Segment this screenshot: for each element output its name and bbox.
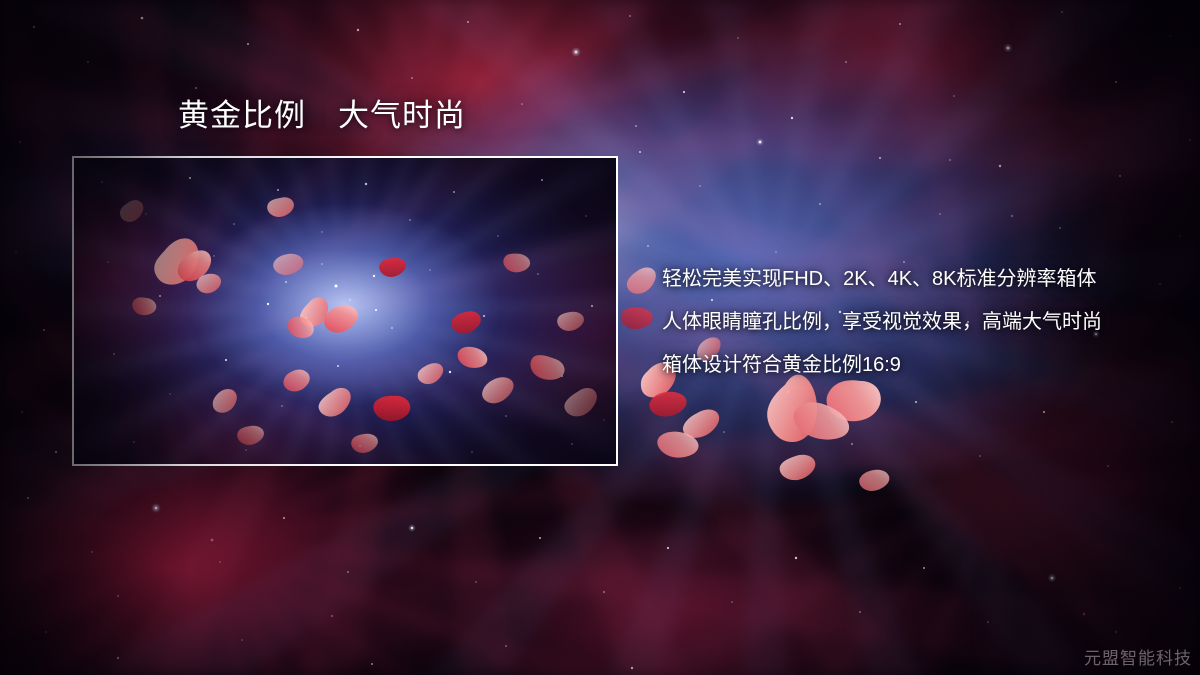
feature-line: 轻松完美实现FHD、2K、4K、8K标准分辨率箱体	[662, 258, 1182, 301]
panel-vignette	[74, 158, 616, 464]
feature-line: 人体眼睛瞳孔比例，享受视觉效果，高端大气时尚	[662, 301, 1182, 344]
feature-description-list: 轻松完美实现FHD、2K、4K、8K标准分辨率箱体 人体眼睛瞳孔比例，享受视觉效…	[662, 258, 1182, 387]
feature-line: 箱体设计符合黄金比例16:9	[662, 344, 1182, 387]
presentation-slide: 黄金比例 大气时尚 轻松完美实现FHD、2K、4K、8K标准分辨率箱体 人体眼睛…	[0, 0, 1200, 675]
page-title: 黄金比例 大气时尚	[178, 99, 466, 133]
display-panel-frame[interactable]	[72, 156, 618, 466]
company-watermark: 元盟智能科技	[1084, 644, 1192, 669]
